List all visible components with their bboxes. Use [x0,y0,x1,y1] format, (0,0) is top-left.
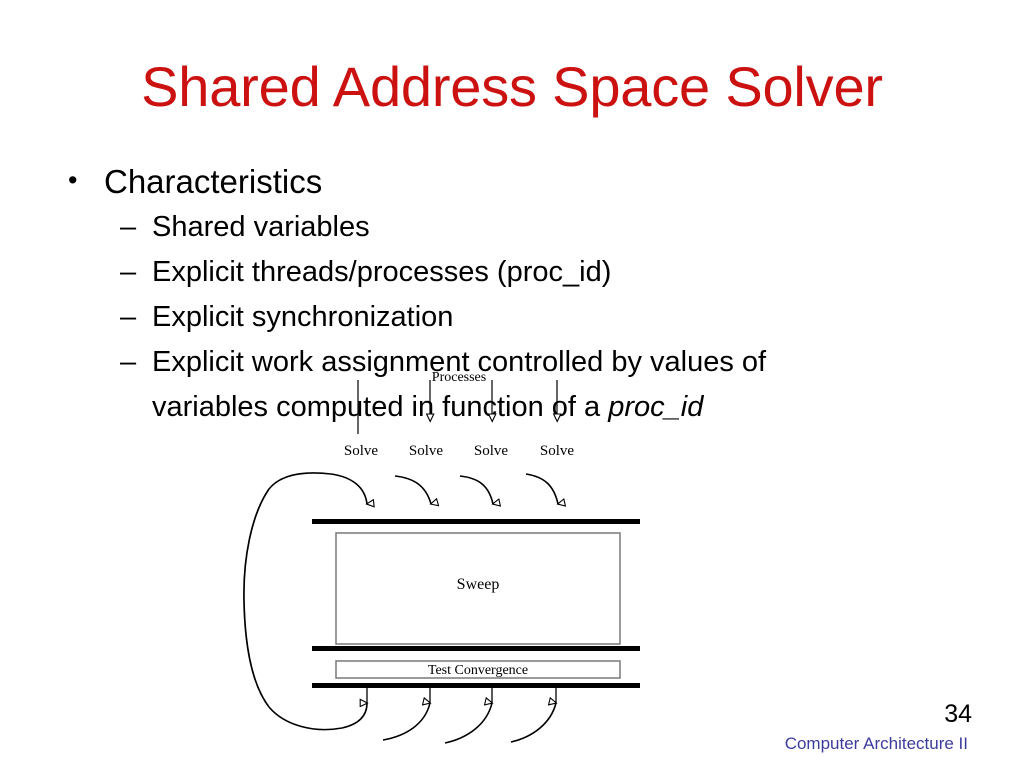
slide-canvas: Shared Address Space Solver • Characteri… [0,0,1024,768]
bullet-level1-label: Characteristics [104,163,322,200]
join-arrow-4 [511,703,556,742]
solve-labels: Solve Solve Solve Solve [344,443,575,459]
bullet-line2-italic-procid: proc_id [608,391,703,423]
bottom-stubs [367,688,556,703]
barrier-bottom [312,683,640,688]
barrier-middle [312,646,640,651]
solve-label-2: Solve [409,443,444,459]
fork-arrow-4 [526,474,558,504]
join-arrow-1 [269,703,367,730]
bullet-dash-icon: – [120,205,136,250]
page-title: Shared Address Space Solver [0,58,1024,117]
join-arrow-2 [383,703,430,740]
bullet-dash-icon: – [120,295,136,340]
bullet-dot-icon: • [68,159,77,202]
bullet-level2-label-line2: variables computed in function of a proc… [152,385,962,430]
sweep-box [336,533,620,644]
test-convergence-label: Test Convergence [428,663,528,678]
fork-arrow-1 [269,473,367,504]
bullet-level2-label: Explicit threads/processes (proc_id) [152,250,962,295]
top-fork-arrows [269,473,558,504]
sweep-label: Sweep [457,576,500,593]
bullet-list: • Characteristics – Shared variables – E… [62,160,962,430]
footer-course-label: Computer Architecture II [785,734,968,754]
barrier-top [312,519,640,524]
solve-label-3: Solve [474,443,509,459]
loopback-curve [244,489,269,707]
bullet-level2-explicit-work-assignment: – Explicit work assignment controlled by… [62,340,962,430]
bullet-level2-label: Explicit synchronization [152,295,962,340]
bullet-level1-characteristics: • Characteristics [62,160,962,203]
test-convergence-box [336,661,620,678]
bullet-level2-explicit-threads: – Explicit threads/processes (proc_id) [62,250,962,295]
bullet-level2-label-line1: Explicit work assignment controlled by v… [152,340,962,385]
fork-arrow-2 [395,476,431,504]
page-number: 34 [944,700,972,729]
join-arrow-3 [445,703,492,743]
bullet-dash-icon: – [120,250,136,295]
solve-label-4: Solve [540,443,575,459]
bullet-level2-explicit-synchronization: – Explicit synchronization [62,295,962,340]
bullet-dash-icon: – [120,340,136,385]
bottom-join-arrows [269,703,556,743]
bullet-level2-label: Shared variables [152,205,962,250]
solve-label-1: Solve [344,443,379,459]
fork-arrow-3 [460,476,493,504]
bullet-level2-shared-variables: – Shared variables [62,205,962,250]
bullet-line2-plain: variables computed in function of a [152,391,608,423]
